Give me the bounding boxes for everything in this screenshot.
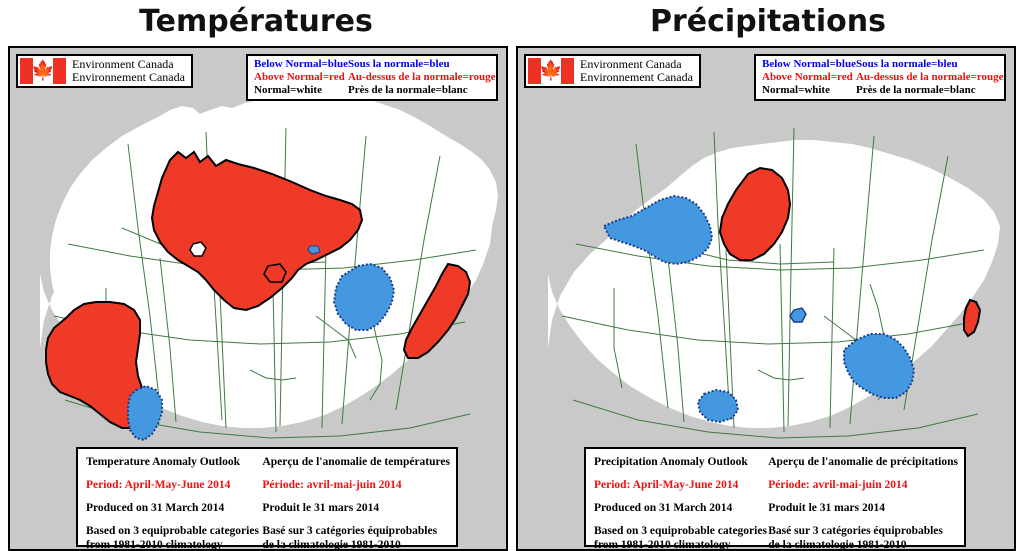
info-heading-en: Precipitation Anomaly Outlook <box>594 455 768 469</box>
legend-above-normal-en: Above Normal=red <box>254 71 348 84</box>
map-panel-precipitation[interactable]: 🍁 Environment Canada Environnement Canad… <box>516 46 1016 551</box>
region-archipelago-hole <box>190 242 206 256</box>
legend-above-normal-en: Above Normal=red <box>762 71 856 84</box>
environment-canada-logo: 🍁 Environment Canada Environnement Canad… <box>524 54 701 88</box>
info-basis-fr-line2: de la climatologie 1981-2010 <box>262 538 450 551</box>
info-box-temperature: Temperature Anomaly Outlook Period: Apri… <box>76 447 458 547</box>
info-column-french: Aperçu de l'anomalie de températures Pér… <box>262 455 450 541</box>
region-baffin-small-above-normal <box>264 264 286 282</box>
info-basis-fr: Basé sur 3 catégories équiprobables de l… <box>768 524 958 551</box>
outlook-maps-page: Températures Précipitations <box>0 0 1024 551</box>
info-period-en: Period: April-May-June 2014 <box>86 478 262 492</box>
info-basis-fr-line1: Basé sur 3 catégories équiprobables <box>262 524 450 538</box>
logo-line-fr: Environnement Canada <box>580 71 693 84</box>
info-column-english: Temperature Anomaly Outlook Period: Apri… <box>86 455 262 541</box>
info-column-english: Precipitation Anomaly Outlook Period: Ap… <box>594 455 768 541</box>
info-basis-en-line2: from 1981-2010 climatology <box>86 538 262 551</box>
legend-below-normal-en: Below Normal=blue <box>254 58 348 71</box>
info-basis-en-line1: Based on 3 equiprobable categories <box>86 524 262 538</box>
region-southern-manitoba-below-normal <box>698 390 738 422</box>
info-heading-fr: Aperçu de l'anomalie de précipitations <box>768 455 958 469</box>
info-produced-fr: Produit le 31 mars 2014 <box>262 501 450 515</box>
legend-below-normal-fr: Sous la normale=bleu <box>348 58 496 71</box>
canada-flag-icon: 🍁 <box>528 58 574 84</box>
info-heading-en: Temperature Anomaly Outlook <box>86 455 262 469</box>
map-panel-temperature[interactable]: 🍁 Environment Canada Environnement Canad… <box>8 46 508 551</box>
info-basis-en: Based on 3 equiprobable categories from … <box>86 524 262 551</box>
legend-column-french: Sous la normale=bleu Au-dessus de la nor… <box>856 58 1004 97</box>
legend-normal-fr: Près de la normale=blanc <box>856 84 1004 97</box>
legend-temperature: Below Normal=blue Above Normal=red Norma… <box>246 54 498 101</box>
page-title-precipitation: Précipitations <box>512 2 1024 42</box>
legend-normal-fr: Près de la normale=blanc <box>348 84 496 97</box>
info-period-en: Period: April-May-June 2014 <box>594 478 768 492</box>
page-title-temperature: Températures <box>0 2 512 42</box>
logo-line-fr: Environnement Canada <box>72 71 185 84</box>
info-box-precipitation: Precipitation Anomaly Outlook Period: Ap… <box>584 447 966 547</box>
legend-below-normal-en: Below Normal=blue <box>762 58 856 71</box>
legend-precipitation: Below Normal=blue Above Normal=red Norma… <box>754 54 1006 101</box>
info-heading-fr: Aperçu de l'anomalie de températures <box>262 455 450 469</box>
legend-column-english: Below Normal=blue Above Normal=red Norma… <box>254 58 348 97</box>
info-basis-fr-line2: de la climatologie 1981-2010 <box>768 538 958 551</box>
legend-normal-en: Normal=white <box>762 84 856 97</box>
canada-flag-icon: 🍁 <box>20 58 66 84</box>
info-basis-fr-line1: Basé sur 3 catégories équiprobables <box>768 524 958 538</box>
legend-above-normal-fr: Au-dessus de la normale=rouge <box>348 71 496 84</box>
info-basis-en: Based on 3 equiprobable categories from … <box>594 524 768 551</box>
logo-text-block: Environment Canada Environnement Canada <box>72 58 185 84</box>
info-basis-en-line2: from 1981-2010 climatology <box>594 538 768 551</box>
info-period-fr: Période: avril-mai-juin 2014 <box>262 478 450 492</box>
legend-below-normal-fr: Sous la normale=bleu <box>856 58 1004 71</box>
info-period-fr: Période: avril-mai-juin 2014 <box>768 478 958 492</box>
logo-text-block: Environment Canada Environnement Canada <box>580 58 693 84</box>
legend-column-french: Sous la normale=bleu Au-dessus de la nor… <box>348 58 496 97</box>
info-basis-fr: Basé sur 3 catégories équiprobables de l… <box>262 524 450 551</box>
legend-column-english: Below Normal=blue Above Normal=red Norma… <box>762 58 856 97</box>
legend-normal-en: Normal=white <box>254 84 348 97</box>
info-basis-en-line1: Based on 3 equiprobable categories <box>594 524 768 538</box>
environment-canada-logo: 🍁 Environment Canada Environnement Canad… <box>16 54 193 88</box>
info-produced-fr: Produit le 31 mars 2014 <box>768 501 958 515</box>
info-column-french: Aperçu de l'anomalie de précipitations P… <box>768 455 958 541</box>
info-produced-en: Produced on 31 March 2014 <box>86 501 262 515</box>
info-produced-en: Produced on 31 March 2014 <box>594 501 768 515</box>
legend-above-normal-fr: Au-dessus de la normale=rouge <box>856 71 1004 84</box>
